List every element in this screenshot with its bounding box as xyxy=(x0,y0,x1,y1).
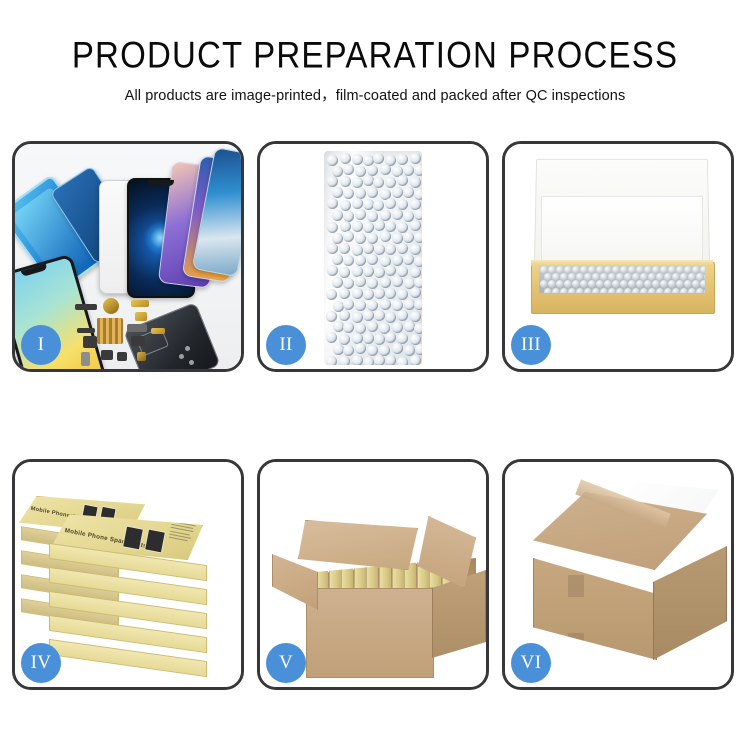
bubble xyxy=(648,288,656,293)
step-badge-3: III xyxy=(511,325,551,365)
bubble xyxy=(343,299,354,310)
step-numeral-6: VI xyxy=(521,652,542,674)
process-steps-grid: I II xyxy=(12,141,738,690)
bubble xyxy=(560,288,568,293)
bubble xyxy=(392,209,403,220)
bubble xyxy=(327,198,338,209)
bubble xyxy=(385,312,396,323)
bubble xyxy=(392,322,403,333)
bubble xyxy=(367,321,378,332)
bubble xyxy=(363,222,374,233)
bubble xyxy=(352,154,363,165)
step-badge-2: II xyxy=(266,325,306,365)
bubble xyxy=(352,266,363,277)
bubble xyxy=(373,153,384,164)
bubble xyxy=(392,276,403,287)
bubble xyxy=(385,177,396,188)
bubble xyxy=(340,153,351,164)
bubble xyxy=(327,176,338,187)
bubble xyxy=(374,355,385,365)
bubble xyxy=(414,209,422,220)
bubble xyxy=(352,198,363,209)
bubble xyxy=(343,322,354,333)
bubble xyxy=(355,255,366,266)
step-numeral-4: IV xyxy=(31,652,52,674)
step-panel-6: VI xyxy=(502,459,734,690)
bubble xyxy=(600,288,608,293)
bubble xyxy=(363,289,374,300)
bubble xyxy=(355,300,366,311)
bubble xyxy=(624,288,632,293)
bubble xyxy=(385,198,396,209)
bubble xyxy=(410,244,421,255)
bubble xyxy=(414,323,422,334)
bubble xyxy=(410,287,421,298)
bubble xyxy=(352,312,363,323)
bubble xyxy=(410,153,421,164)
bubble xyxy=(339,356,350,365)
bubble xyxy=(363,266,374,277)
spare-parts-cluster xyxy=(75,294,207,369)
step-badge-5: V xyxy=(266,643,306,683)
step-panel-2: II xyxy=(257,141,489,372)
bubble xyxy=(374,334,385,345)
bubble xyxy=(363,333,374,344)
page-header: PRODUCT PREPARATION PROCESS All products… xyxy=(0,0,750,105)
product-preparation-page: PRODUCT PREPARATION PROCESS All products… xyxy=(0,0,750,750)
bubble xyxy=(380,210,391,221)
step-badge-1: I xyxy=(21,325,61,365)
bubble xyxy=(632,288,640,293)
bubble xyxy=(414,256,422,267)
bubble xyxy=(343,345,354,356)
bubble xyxy=(672,288,680,293)
bubble-wrap-sheet xyxy=(324,151,422,365)
bubble xyxy=(664,288,672,293)
box-lip-icon xyxy=(531,260,713,266)
step-numeral-2: II xyxy=(279,334,292,356)
bubble xyxy=(385,355,396,365)
bubble xyxy=(592,288,600,293)
step-panel-1: I xyxy=(12,141,244,372)
bubble xyxy=(397,154,408,165)
bubble xyxy=(332,166,343,177)
bubble xyxy=(385,244,396,255)
bubble xyxy=(415,344,422,355)
bubble xyxy=(696,288,704,293)
carton-front-panel xyxy=(306,588,434,678)
bubble xyxy=(414,277,422,288)
step-panel-4: Mobile Phone Spare Parts Mobile Phone Sp… xyxy=(12,459,244,690)
bubble xyxy=(576,288,584,293)
bubble xyxy=(355,276,366,287)
bubble xyxy=(404,299,415,310)
bubble xyxy=(414,232,422,243)
bubble xyxy=(640,288,648,293)
sealed-carton-right xyxy=(653,546,727,660)
step-numeral-3: III xyxy=(521,334,541,356)
bubble xyxy=(343,211,354,222)
page-subtitle: All products are image-printed，film-coat… xyxy=(0,84,750,105)
bubble xyxy=(397,243,408,254)
bubble xyxy=(584,288,592,293)
bubble xyxy=(352,245,363,256)
bubble xyxy=(367,345,378,356)
bubble xyxy=(544,288,552,293)
box-lid-inner-icon xyxy=(541,196,703,264)
bubble xyxy=(385,265,396,276)
bubble xyxy=(333,321,344,332)
bubble xyxy=(410,220,421,231)
bubble xyxy=(340,176,351,187)
bubble xyxy=(680,288,688,293)
bubble xyxy=(373,200,384,211)
bubble xyxy=(374,244,385,255)
bubble xyxy=(656,288,664,293)
bubble xyxy=(343,164,354,175)
bubble xyxy=(704,288,706,293)
bubble xyxy=(397,175,408,186)
bubble xyxy=(414,299,422,310)
bubble xyxy=(355,233,366,244)
bubble xyxy=(410,267,421,278)
bubble xyxy=(568,288,576,293)
step-numeral-1: I xyxy=(38,334,45,356)
bubble xyxy=(340,221,351,232)
bubble xyxy=(363,357,374,365)
bubble xyxy=(333,344,344,355)
bubble xyxy=(367,254,378,265)
bubble xyxy=(385,332,396,343)
bubble xyxy=(397,310,408,321)
step-panel-3: III xyxy=(502,141,734,372)
bubble xyxy=(616,288,624,293)
bubble xyxy=(374,310,385,321)
bubble xyxy=(392,255,403,266)
bubble xyxy=(414,165,422,176)
bubble xyxy=(374,220,385,231)
bubble xyxy=(403,187,414,198)
box-bubble-fill xyxy=(539,265,705,293)
carton-back-flap xyxy=(298,520,418,570)
bubble xyxy=(374,267,385,278)
bubble xyxy=(327,222,338,233)
bubble xyxy=(404,321,415,332)
bubble xyxy=(363,310,374,321)
bubble xyxy=(403,165,414,176)
bubble xyxy=(367,233,378,244)
sealed-carton-front xyxy=(533,558,657,660)
bubble xyxy=(414,189,422,200)
bubble xyxy=(374,288,385,299)
bubble xyxy=(367,187,378,198)
bubble xyxy=(552,288,560,293)
bubble xyxy=(380,299,391,310)
bubble xyxy=(327,265,338,276)
bubble xyxy=(340,200,351,211)
step-numeral-5: V xyxy=(279,652,293,674)
bubble xyxy=(326,356,337,365)
step-badge-4: IV xyxy=(21,643,61,683)
bubble xyxy=(352,333,363,344)
bubble xyxy=(410,177,421,188)
bubble xyxy=(392,343,403,354)
bubble xyxy=(380,164,391,175)
step-badge-6: VI xyxy=(511,643,551,683)
bubble xyxy=(367,278,378,289)
bubble xyxy=(403,254,414,265)
bubble xyxy=(355,343,366,354)
bubble xyxy=(392,187,403,198)
bubble xyxy=(363,243,374,254)
bubble xyxy=(380,277,391,288)
step-panel-5: V xyxy=(257,459,489,690)
bubble xyxy=(355,209,366,220)
page-title: PRODUCT PREPARATION PROCESS xyxy=(0,36,750,75)
bubble xyxy=(410,355,421,365)
bubble xyxy=(352,288,363,299)
bubble xyxy=(688,288,696,293)
bubble xyxy=(385,288,396,299)
bubble xyxy=(373,177,384,188)
bubble xyxy=(608,288,616,293)
bubble xyxy=(352,221,363,232)
bubble xyxy=(332,187,343,198)
bubble xyxy=(397,357,408,365)
bubble xyxy=(363,199,374,210)
bubble xyxy=(352,355,363,365)
